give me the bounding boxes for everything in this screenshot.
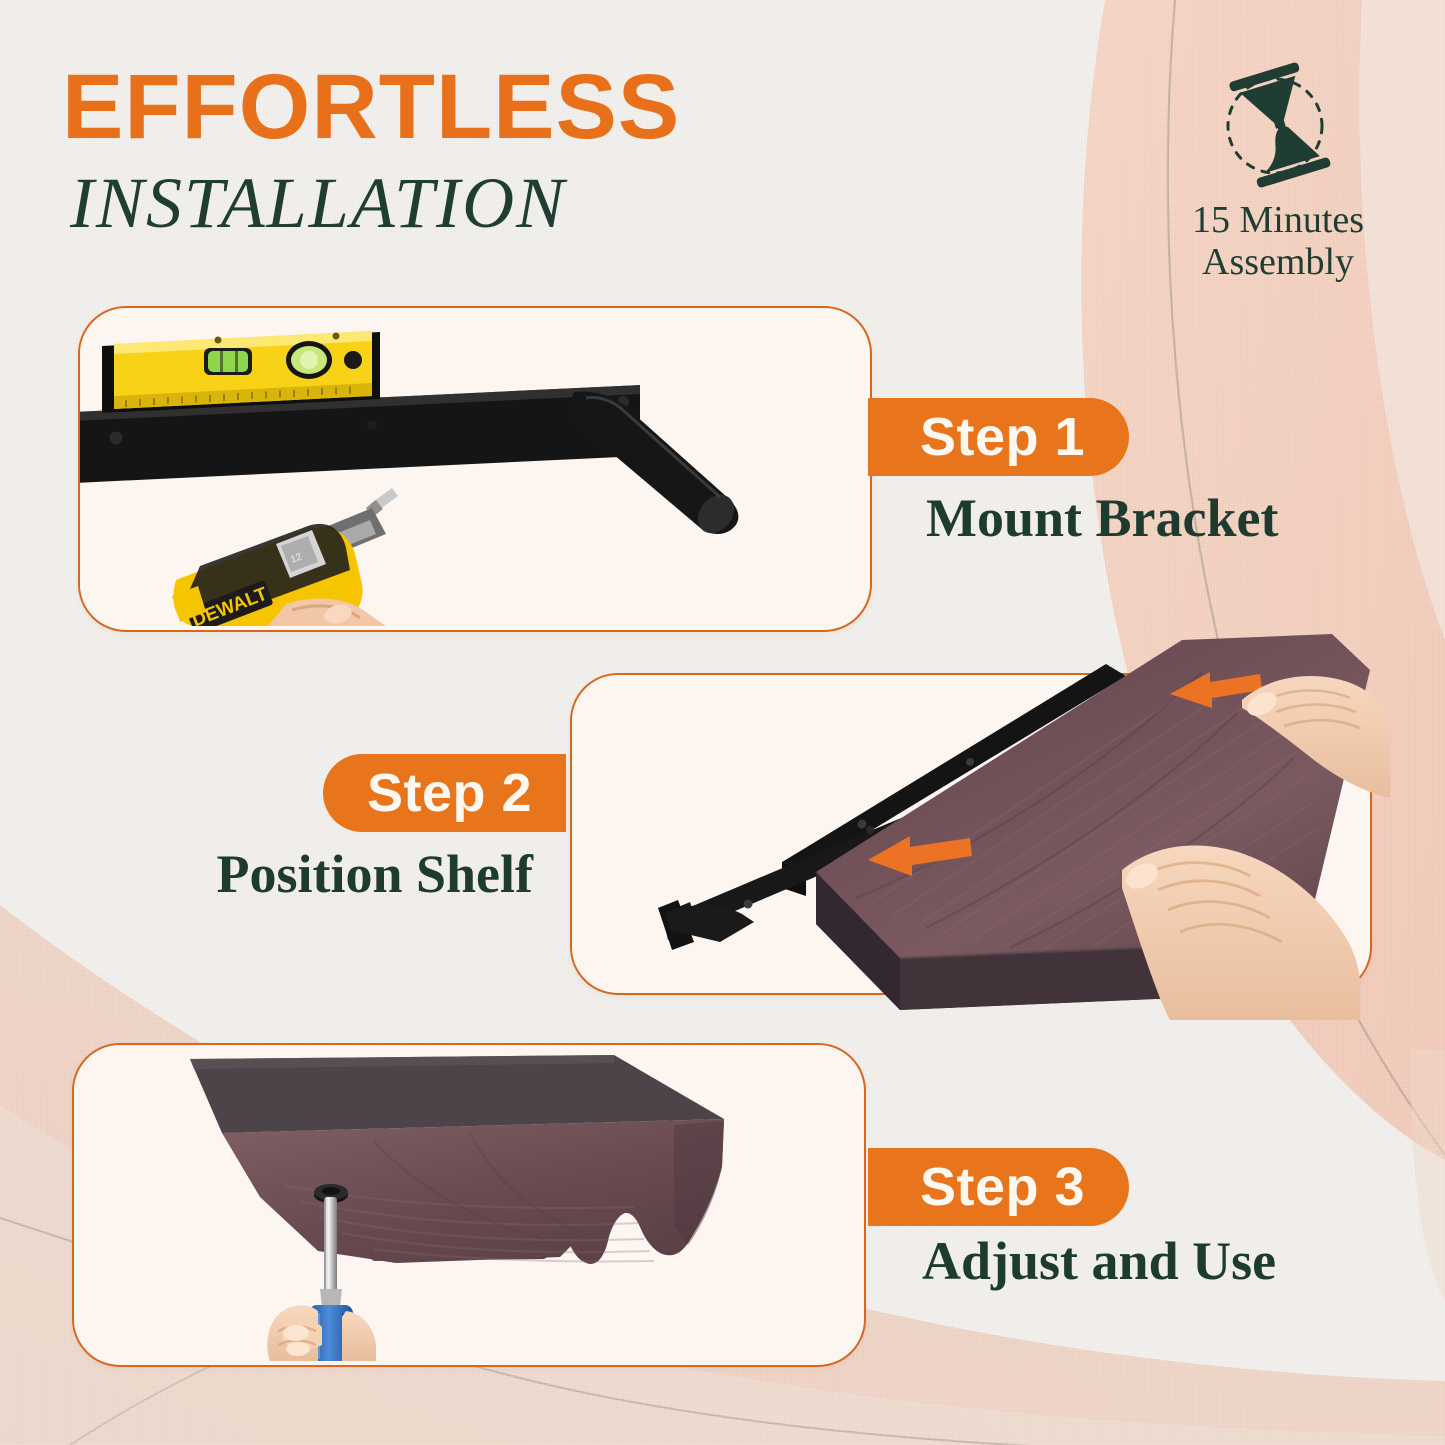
page-title: EFFORTLESS INSTALLATION <box>62 62 680 242</box>
assembly-time-badge: 15 Minutes Assembly <box>1168 58 1388 286</box>
step-1-pill-label: Step 1 <box>920 406 1085 468</box>
step-3-caption: Adjust and Use <box>922 1230 1276 1292</box>
hourglass-icon <box>1213 58 1343 193</box>
step-3-image-card <box>72 1043 866 1367</box>
step-1-pill: Step 1 <box>868 398 1129 476</box>
step-3-pill: Step 3 <box>868 1148 1129 1226</box>
step-2-image <box>572 675 1370 993</box>
step-2-illustration-backdrop <box>572 675 1366 989</box>
title-main: EFFORTLESS <box>62 62 680 152</box>
step-2-caption: Position Shelf <box>216 843 533 905</box>
yellow-spirit-level <box>102 331 380 413</box>
step-2-pill: Step 2 <box>323 754 566 832</box>
step-1-image-card: 12 DEWALT <box>78 306 872 632</box>
badge-line-2: Assembly <box>1168 239 1388 285</box>
step-3-pill-label: Step 3 <box>920 1156 1085 1218</box>
infographic-canvas: EFFORTLESS INSTALLATION 15 Minutes Assem… <box>0 0 1445 1445</box>
badge-line-1: 15 Minutes <box>1168 197 1388 243</box>
title-subtitle: INSTALLATION <box>70 166 680 242</box>
step-2-pill-label: Step 2 <box>367 762 532 824</box>
step-3-illustration <box>74 1045 860 1361</box>
step-1-caption: Mount Bracket <box>926 487 1278 549</box>
step-3-image <box>74 1045 864 1365</box>
step-1-illustration: 12 DEWALT <box>80 308 866 626</box>
step-2-image-card <box>570 673 1372 995</box>
step-1-image: 12 DEWALT <box>80 308 870 630</box>
